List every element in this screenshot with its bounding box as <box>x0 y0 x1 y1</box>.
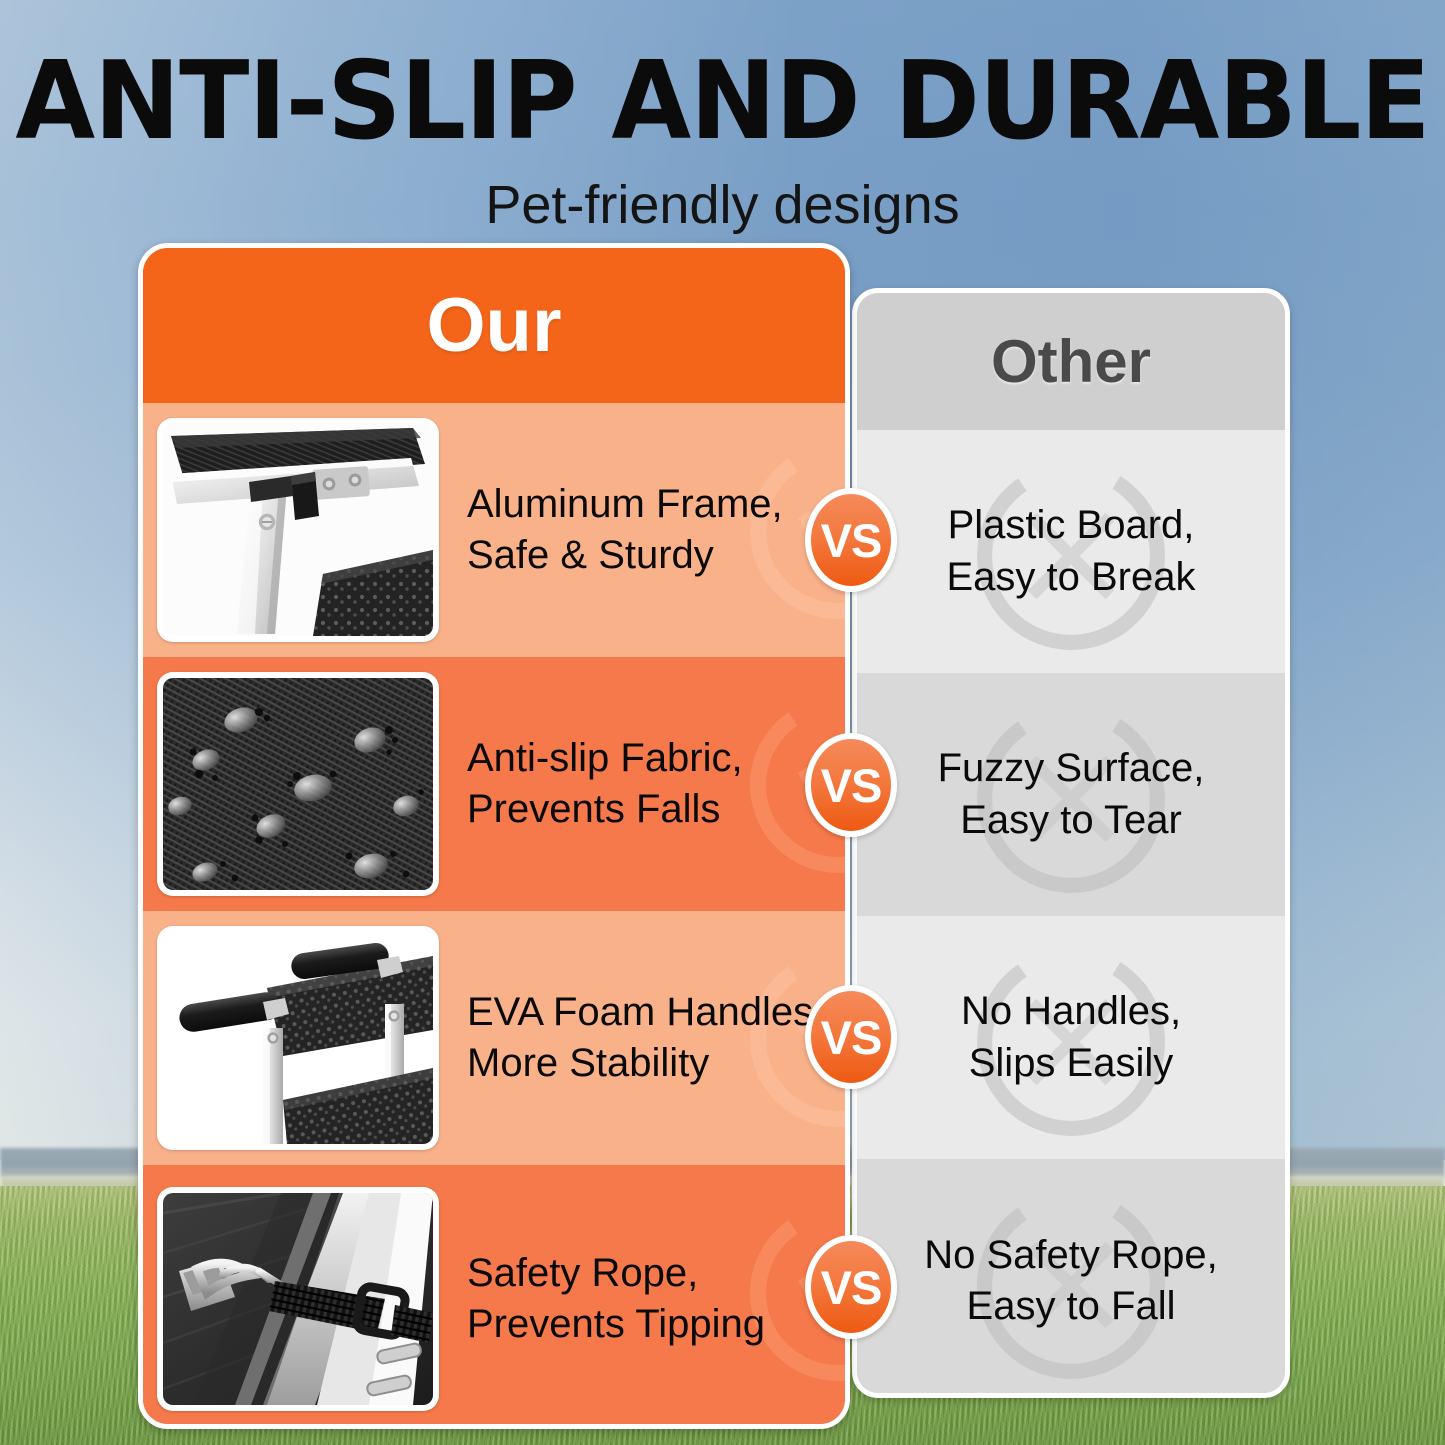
our-row-image <box>157 418 439 642</box>
vs-label: VS <box>821 517 882 564</box>
our-rows: Aluminum Frame, Safe & Sturdy <box>143 403 845 1429</box>
our-row: Safety Rope, Prevents Tipping <box>143 1165 845 1429</box>
vs-label: VS <box>821 1264 882 1311</box>
our-panel-header: Our <box>143 248 845 403</box>
eva-foam-handles-photo <box>163 932 433 1144</box>
aluminum-frame-corner-photo <box>163 424 433 636</box>
vs-badge: VS <box>805 1235 897 1339</box>
safety-rope-carabiner-photo <box>163 1193 433 1405</box>
our-label: Our <box>426 288 561 364</box>
comparison-table: Other Plastic Board, Easy to Break Fuzzy… <box>0 0 1445 1445</box>
vs-badge: VS <box>805 488 897 592</box>
our-row-text: Safety Rope, Prevents Tipping <box>467 1248 765 1350</box>
our-row-text: Anti-slip Fabric, Prevents Falls <box>467 733 743 835</box>
other-row-text: No Safety Rope, Easy to Fall <box>924 1230 1218 1332</box>
other-row: Fuzzy Surface, Easy to Tear <box>857 673 1285 916</box>
other-row-text: Fuzzy Surface, Easy to Tear <box>938 743 1205 845</box>
our-row: EVA Foam Handles More Stability <box>143 911 845 1165</box>
anti-slip-fabric-water-beads-photo <box>163 678 433 890</box>
other-row-text: Plastic Board, Easy to Break <box>946 500 1195 602</box>
other-panel: Other Plastic Board, Easy to Break Fuzzy… <box>852 288 1290 1398</box>
vs-label: VS <box>821 762 882 809</box>
other-row: Plastic Board, Easy to Break <box>857 430 1285 673</box>
other-label: Other <box>991 332 1151 392</box>
our-row-image <box>157 926 439 1150</box>
our-row-image <box>157 1187 439 1411</box>
our-row: Aluminum Frame, Safe & Sturdy <box>143 403 845 657</box>
vs-badge: VS <box>805 733 897 837</box>
our-panel: Our <box>138 243 850 1429</box>
other-row: No Handles, Slips Easily <box>857 916 1285 1159</box>
vs-badge: VS <box>805 985 897 1089</box>
our-row-text: EVA Foam Handles More Stability <box>467 987 813 1089</box>
our-row: Anti-slip Fabric, Prevents Falls <box>143 657 845 911</box>
other-row: No Safety Rope, Easy to Fall <box>857 1159 1285 1398</box>
other-panel-header: Other <box>857 293 1285 430</box>
other-rows: Plastic Board, Easy to Break Fuzzy Surfa… <box>857 430 1285 1398</box>
other-row-text: No Handles, Slips Easily <box>961 986 1181 1088</box>
our-row-image <box>157 672 439 896</box>
vs-label: VS <box>821 1014 882 1061</box>
our-row-text: Aluminum Frame, Safe & Sturdy <box>467 479 783 581</box>
